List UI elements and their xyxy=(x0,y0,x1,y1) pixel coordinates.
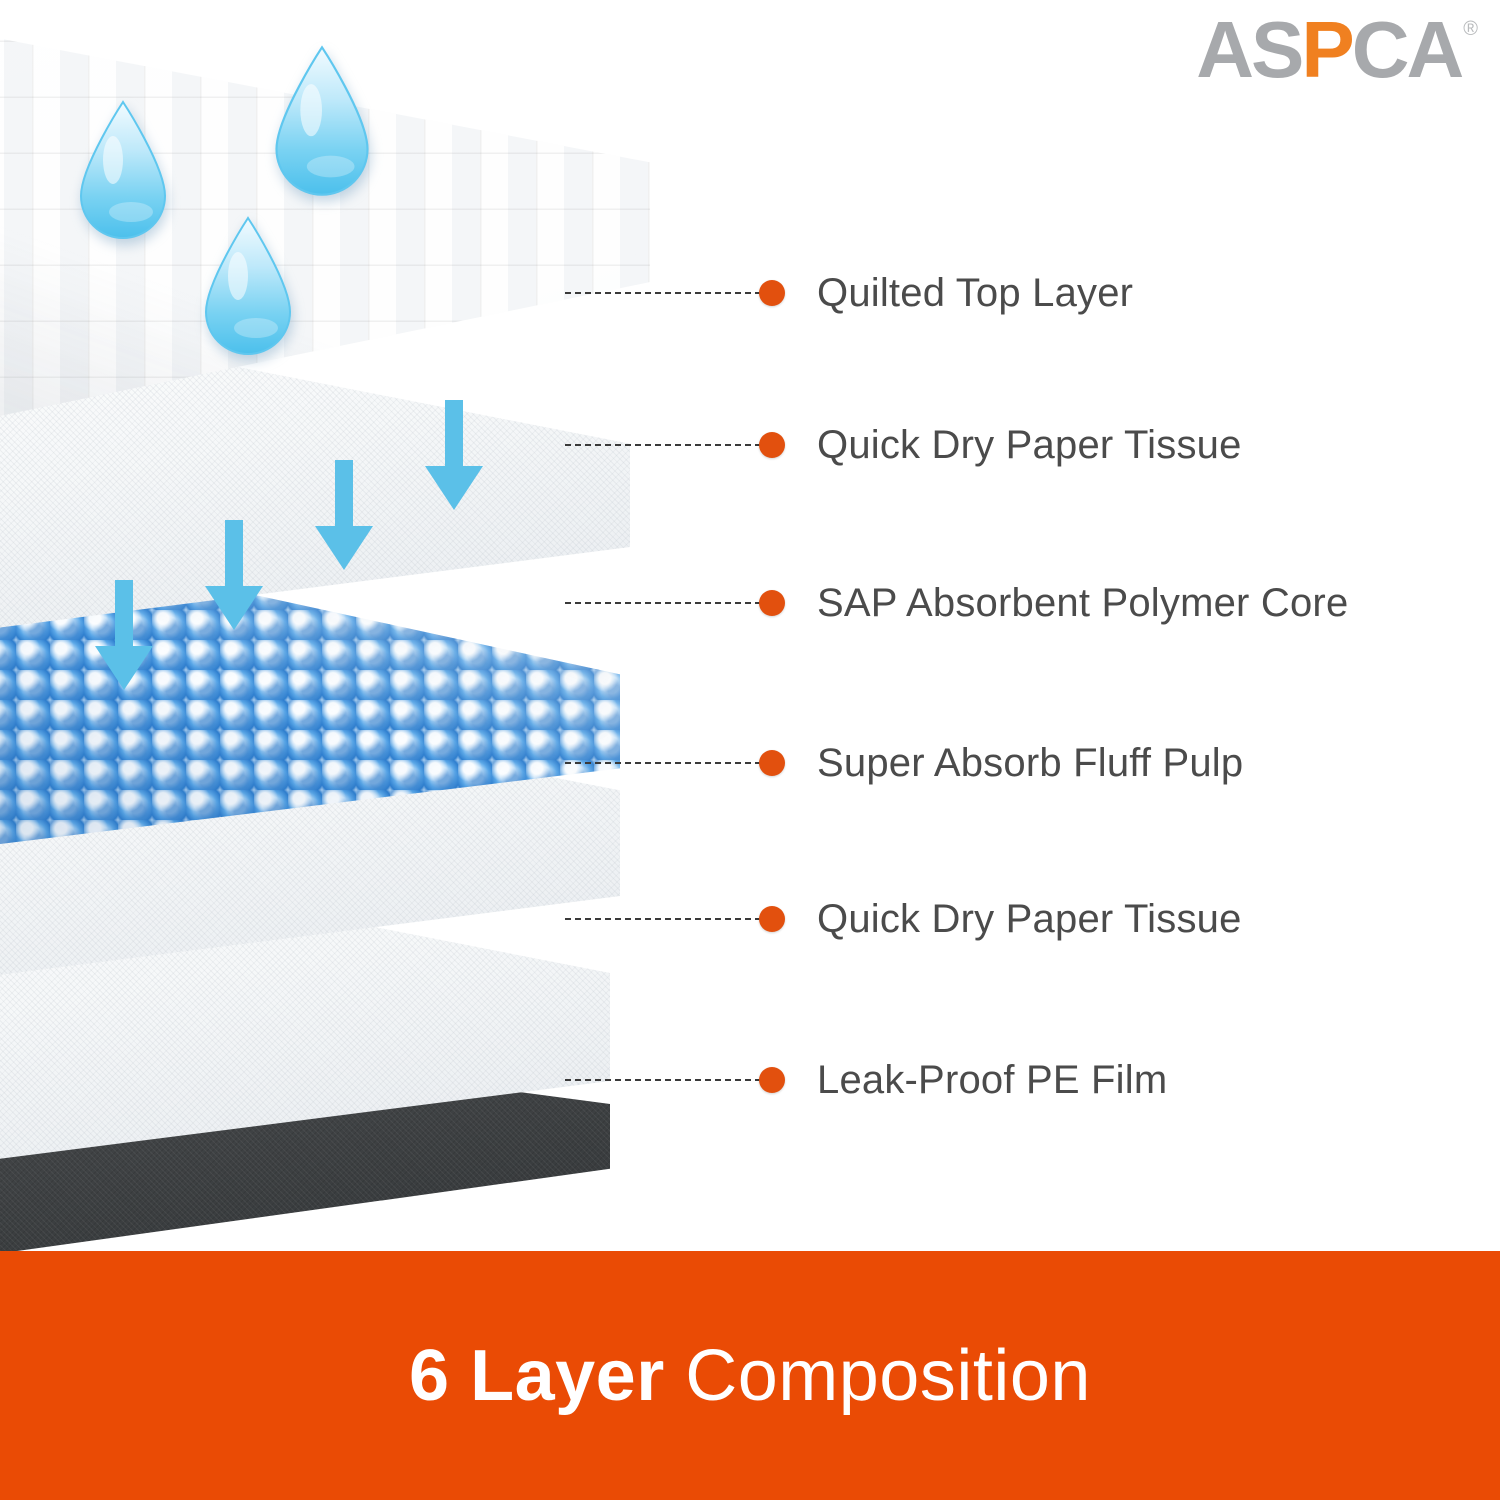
bullet-dot-icon xyxy=(759,590,785,616)
bullet-dot-icon xyxy=(759,1067,785,1093)
banner-title-bold: 6 Layer xyxy=(409,1336,665,1416)
bullet-dot-icon xyxy=(759,906,785,932)
footer-banner: 6 Layer Composition xyxy=(0,1251,1500,1500)
callout-list: Quilted Top Layer Quick Dry Paper Tissue… xyxy=(0,0,1500,1251)
callout-label: Super Absorb Fluff Pulp xyxy=(817,741,1243,786)
banner-title-regular: Composition xyxy=(685,1336,1091,1416)
bullet-dot-icon xyxy=(759,432,785,458)
callout-leak-proof-pe-film: Leak-Proof PE Film xyxy=(565,1057,1167,1103)
bullet-dot-icon xyxy=(759,280,785,306)
callout-quilted-top-layer: Quilted Top Layer xyxy=(565,270,1133,316)
callout-label: Quick Dry Paper Tissue xyxy=(817,897,1242,942)
leader-line xyxy=(565,292,761,294)
infographic-canvas: AS P CA ® Quilted Top Layer Quick Dry Pa… xyxy=(0,0,1500,1500)
callout-super-absorb-fluff-pulp: Super Absorb Fluff Pulp xyxy=(565,740,1243,786)
callout-label: Leak-Proof PE Film xyxy=(817,1058,1167,1103)
leader-line xyxy=(565,1079,761,1081)
banner-title: 6 Layer Composition xyxy=(409,1335,1091,1417)
leader-line xyxy=(565,602,761,604)
bullet-dot-icon xyxy=(759,750,785,776)
callout-label: Quilted Top Layer xyxy=(817,271,1133,316)
leader-line xyxy=(565,762,761,764)
callout-label: SAP Absorbent Polymer Core xyxy=(817,581,1348,626)
leader-line xyxy=(565,918,761,920)
leader-line xyxy=(565,444,761,446)
callout-quick-dry-paper-tissue-top: Quick Dry Paper Tissue xyxy=(565,422,1242,468)
callout-label: Quick Dry Paper Tissue xyxy=(817,423,1242,468)
callout-quick-dry-paper-tissue-bottom: Quick Dry Paper Tissue xyxy=(565,896,1242,942)
callout-sap-absorbent-polymer-core: SAP Absorbent Polymer Core xyxy=(565,580,1348,626)
